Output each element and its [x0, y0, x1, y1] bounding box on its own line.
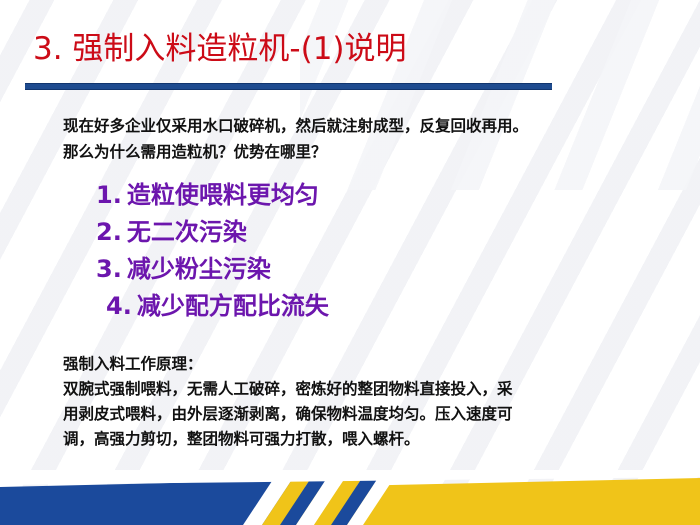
list-item-label: 减少粉尘污染	[127, 251, 271, 288]
principle-line-2: 用剥皮式喂料，由外层逐渐剥离，确保物料温度均匀。压入速度可	[63, 401, 663, 426]
title-underline-rule	[25, 83, 552, 90]
principle-paragraph: 强制入料工作原理： 双腕式强制喂料，无需人工破碎，密炼好的整团物料直接投入，采 …	[63, 351, 663, 451]
principle-line-1: 双腕式强制喂料，无需人工破碎，密炼好的整团物料直接投入，采	[63, 376, 663, 401]
principle-heading: 强制入料工作原理：	[63, 351, 663, 376]
list-item: 4. 减少配方配比流失	[96, 288, 656, 325]
list-item-label: 减少配方配比流失	[137, 288, 329, 325]
list-item: 2. 无二次污染	[96, 214, 656, 251]
advantages-list: 1. 造粒使喂料更均匀 2. 无二次污染 3. 减少粉尘污染 4. 减少配方配比…	[96, 177, 656, 325]
list-item: 1. 造粒使喂料更均匀	[96, 177, 656, 214]
list-item-number: 2.	[96, 214, 122, 251]
principle-line-3: 调，高强力剪切，整团物料可强力打散，喂入螺杆。	[63, 426, 663, 451]
list-item-number: 1.	[96, 177, 122, 214]
list-item-number: 4.	[106, 288, 132, 325]
intro-line-2: 那么为什么需用造粒机？优势在哪里？	[63, 139, 663, 165]
intro-paragraph: 现在好多企业仅采用水口破碎机，然后就注射成型，反复回收再用。 那么为什么需用造粒…	[63, 113, 663, 165]
list-item-label: 造粒使喂料更均匀	[127, 177, 319, 214]
slide-title: 3. 强制入料造粒机-(1)说明	[33, 29, 407, 69]
intro-line-1: 现在好多企业仅采用水口破碎机，然后就注射成型，反复回收再用。	[63, 113, 663, 139]
list-item: 3. 减少粉尘污染	[96, 251, 656, 288]
list-item-number: 3.	[96, 251, 122, 288]
slide-canvas: 3. 强制入料造粒机-(1)说明 现在好多企业仅采用水口破碎机，然后就注射成型，…	[0, 0, 700, 525]
list-item-label: 无二次污染	[127, 214, 247, 251]
footer-decorative-band	[0, 470, 700, 525]
